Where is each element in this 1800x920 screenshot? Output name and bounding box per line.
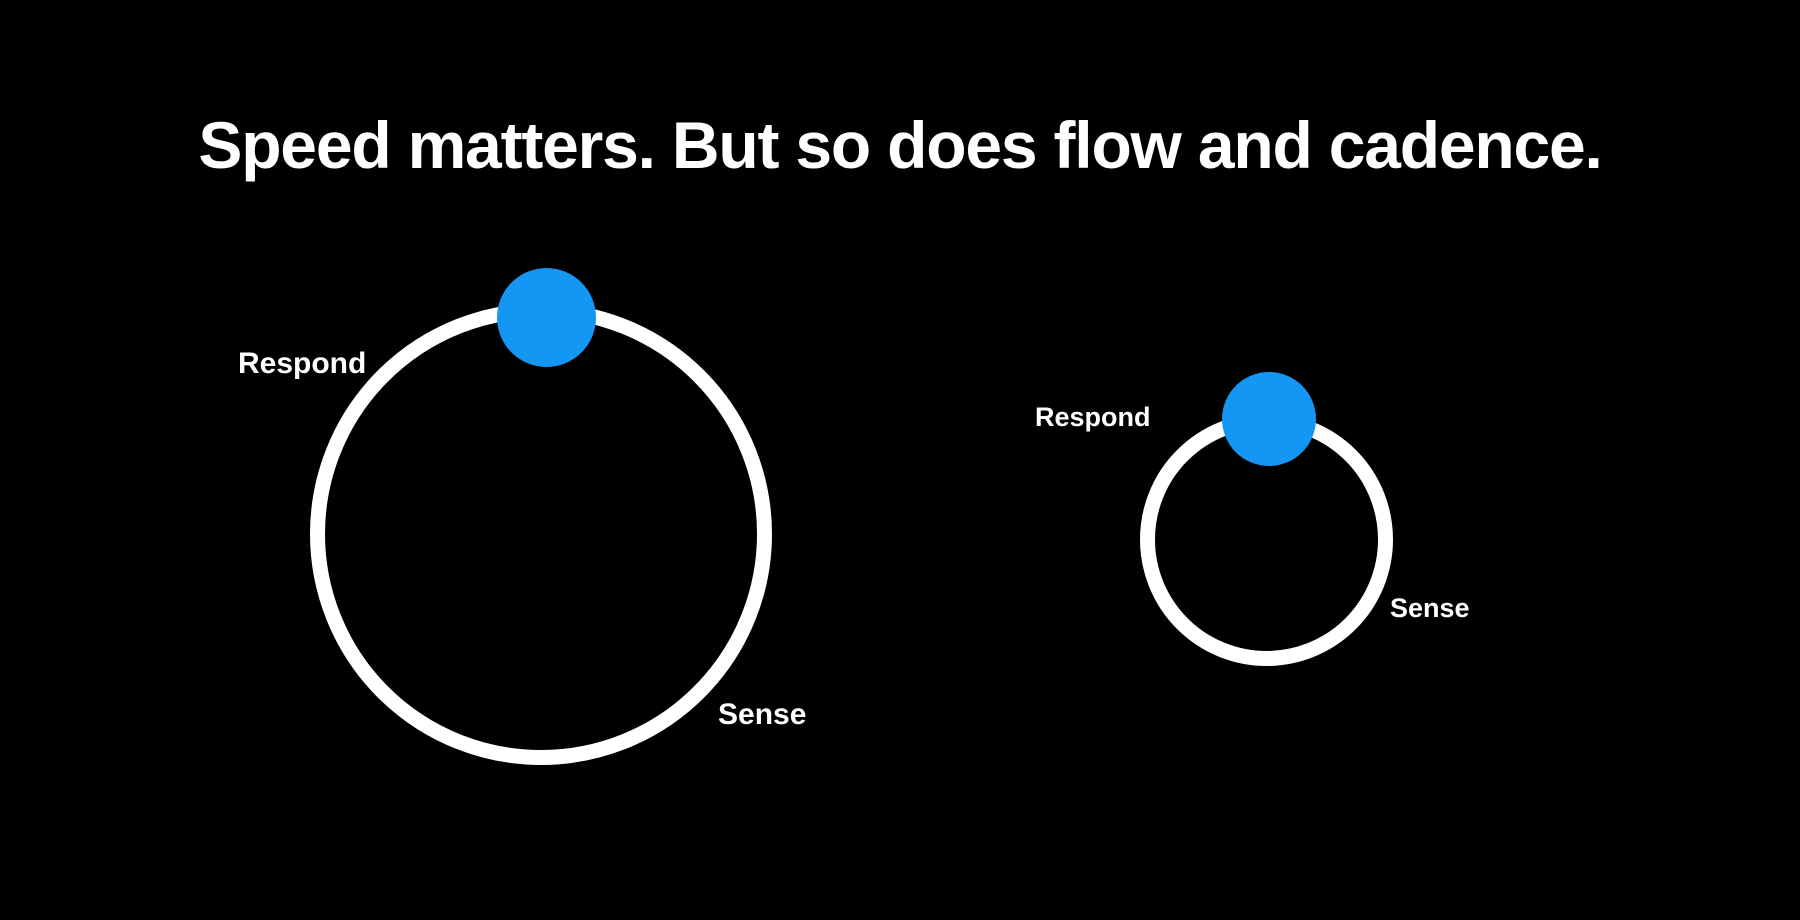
slow-loop-diagram: Respond Sense (0, 0, 900, 920)
slow-loop-label-respond: Respond (238, 349, 366, 379)
slow-loop-marker-dot-icon (497, 268, 596, 367)
slide-canvas: Speed matters. But so does flow and cade… (0, 0, 1800, 920)
fast-loop-label-respond: Respond (1035, 404, 1151, 431)
fast-loop-marker-dot-icon (1222, 372, 1316, 466)
fast-loop-label-sense: Sense (1390, 595, 1470, 622)
slow-loop-label-sense: Sense (718, 700, 806, 730)
slow-loop-ring-icon (310, 303, 772, 765)
fast-loop-diagram: Respond Sense (900, 0, 1800, 920)
